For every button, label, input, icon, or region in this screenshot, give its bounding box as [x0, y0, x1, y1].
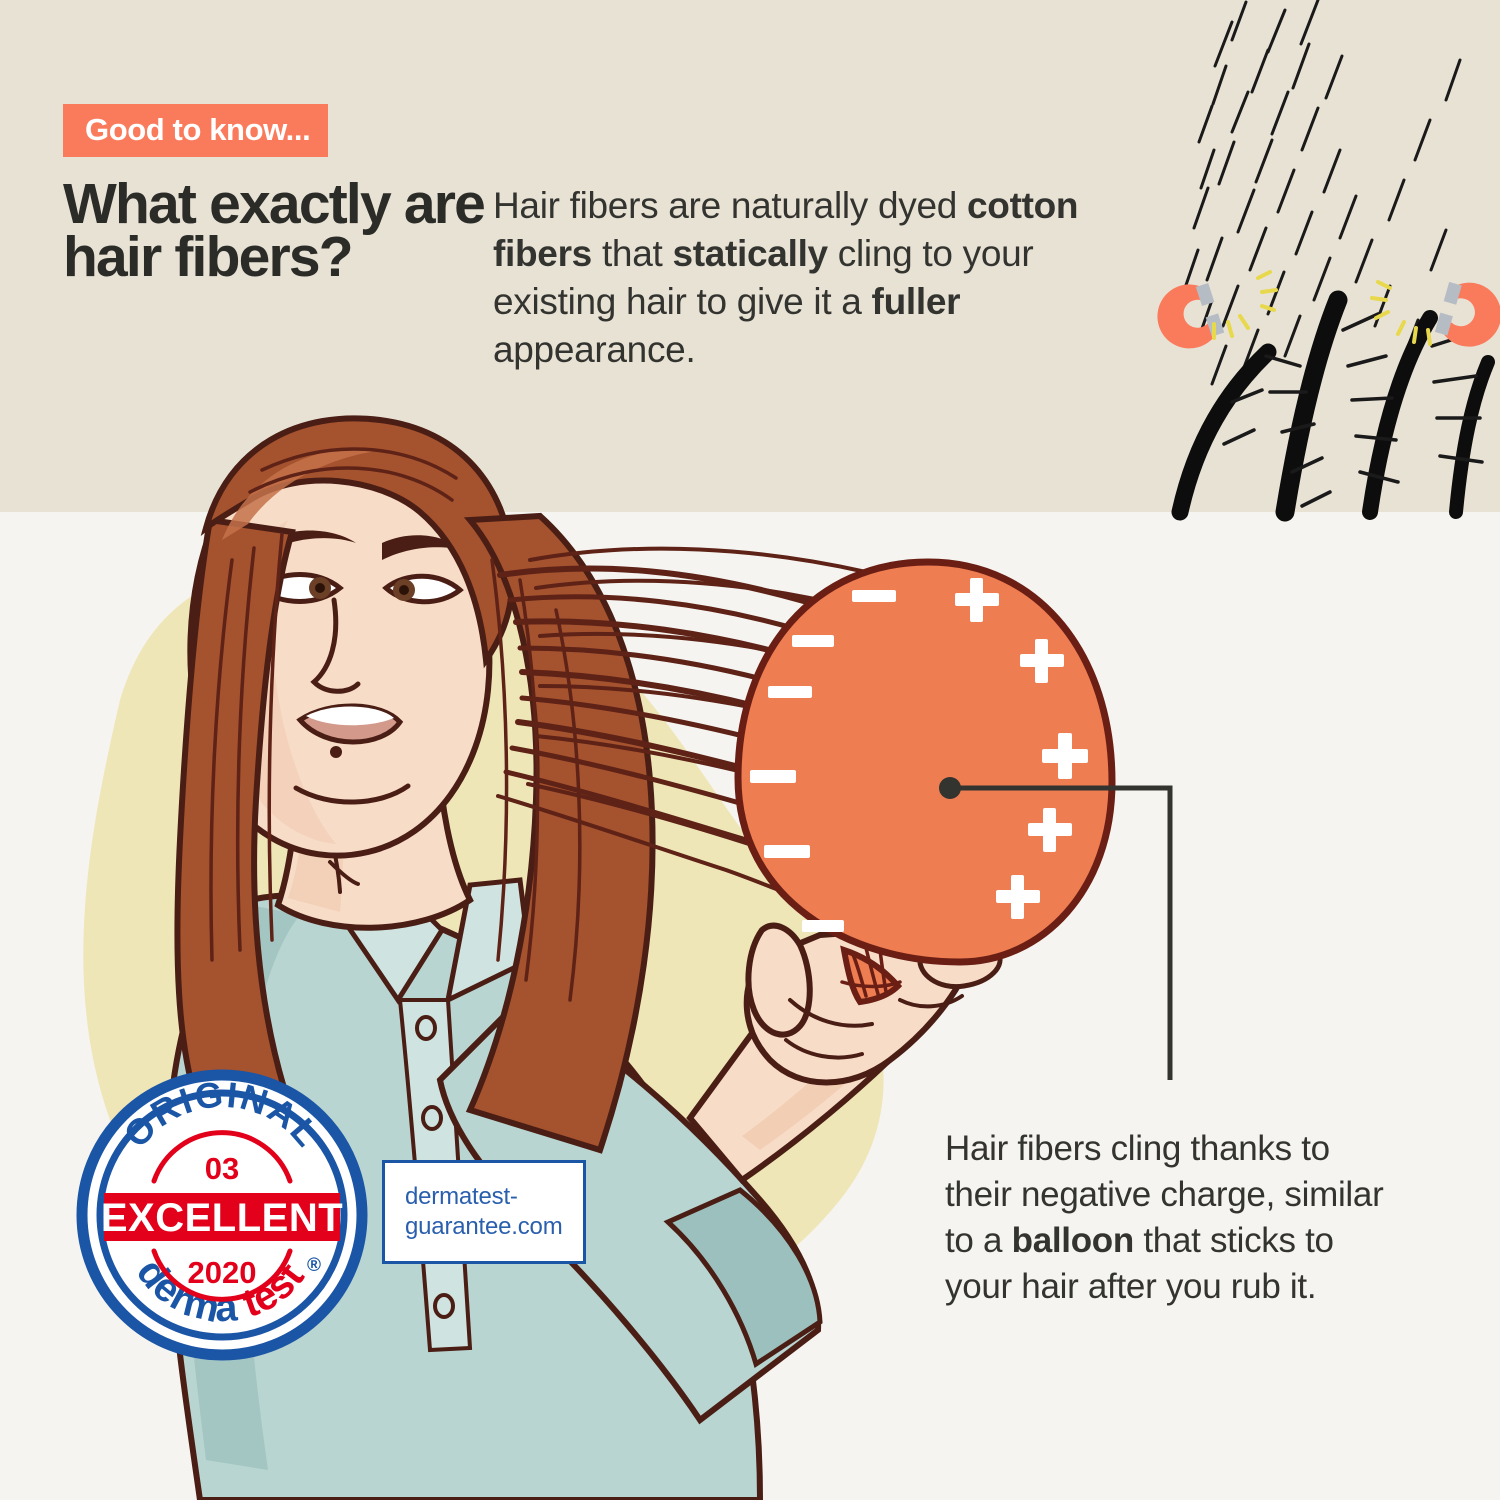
magnet-icon-left [1149, 277, 1226, 356]
intro-paragraph: Hair fibers are naturally dyed cotton fi… [493, 182, 1153, 374]
beauty-mark [330, 746, 342, 758]
dermatest-badge: ORIGINAL derma test 03 EXCELLENT 2020 ® [82, 1073, 362, 1355]
badge-registered-mark: ® [307, 1255, 321, 1276]
infographic-canvas: ORIGINAL derma test 03 EXCELLENT 2020 ® … [0, 0, 1500, 1500]
badge-number: 03 [205, 1151, 239, 1186]
dermatest-url-text: dermatest-guarantee.com [405, 1182, 563, 1242]
balloon-caption: Hair fibers cling thanks to their negati… [945, 1126, 1405, 1310]
intro-text-1: Hair fibers are naturally dyed [493, 185, 967, 226]
caption-bold-balloon: balloon [1012, 1221, 1134, 1260]
thumb [748, 926, 809, 1035]
page-title: What exactly are hair fibers? [63, 178, 493, 284]
magnet-sparks-left [1214, 272, 1276, 338]
badge-rating-text: EXCELLENT [101, 1196, 343, 1240]
intro-text-2: that [592, 233, 672, 274]
intro-bold-statically: statically [672, 233, 827, 274]
dermatest-url-box[interactable]: dermatest-guarantee.com [382, 1160, 586, 1264]
badge-year: 2020 [188, 1255, 257, 1290]
url-line-1: dermatest- [405, 1183, 518, 1210]
intro-text-4: appearance. [493, 329, 695, 370]
kicker-badge: Good to know... [63, 104, 328, 157]
hair-shaft-branches [1224, 314, 1482, 506]
url-line-2: guarantee.com [405, 1213, 563, 1240]
intro-bold-fuller: fuller [872, 281, 961, 322]
